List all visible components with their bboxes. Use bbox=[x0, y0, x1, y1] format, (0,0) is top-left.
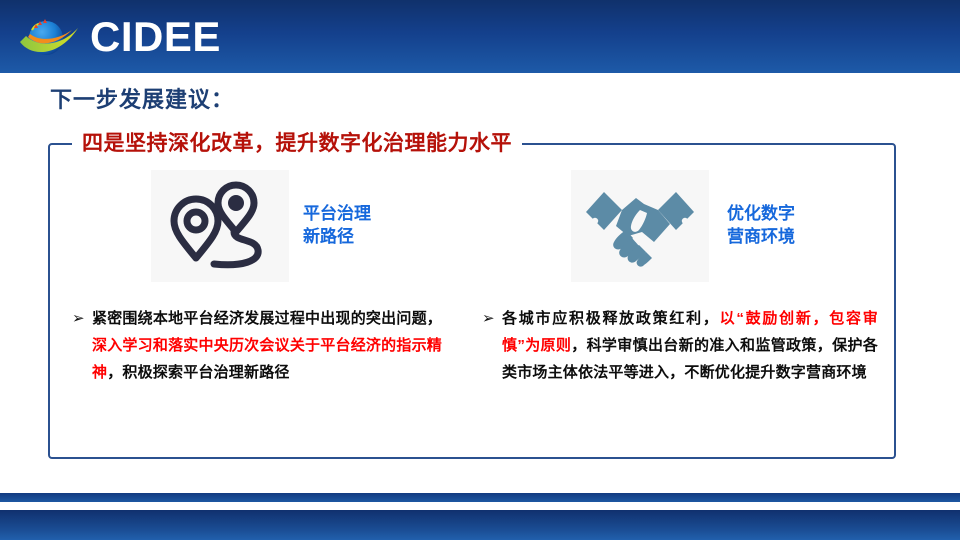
bullet-left: ➢ 紧密围绕本地平台经济发展过程中出现的突出问题，深入学习和落实中央历次会议关于… bbox=[72, 305, 442, 386]
icon-label-right-line2: 营商环境 bbox=[727, 226, 795, 249]
brand-wordmark: CIDEE bbox=[90, 16, 221, 58]
page-title: 下一步发展建议： bbox=[50, 82, 234, 114]
slide-header: CIDEE bbox=[0, 0, 960, 73]
column-platform-governance: 平台治理 新路径 ➢ 紧密围绕本地平台经济发展过程中出现的突出问题，深入学习和落… bbox=[50, 145, 472, 457]
bullet-right-text: 各城市应积极释放政策红利，以“鼓励创新，包容审慎”为原则，科学审慎出台新的准入和… bbox=[502, 305, 878, 386]
bullet-right: ➢ 各城市应积极释放政策红利，以“鼓励创新，包容审慎”为原则，科学审慎出台新的准… bbox=[482, 305, 878, 386]
cidee-globe-swoosh-logo bbox=[16, 12, 88, 62]
content-box: 四是坚持深化改革，提升数字化治理能力水平 bbox=[48, 143, 896, 459]
columns-container: 平台治理 新路径 ➢ 紧密围绕本地平台经济发展过程中出现的突出问题，深入学习和落… bbox=[50, 145, 894, 457]
handshake-icon bbox=[571, 170, 709, 282]
bullet-arrow-icon: ➢ bbox=[72, 305, 92, 332]
icon-label-left: 平台治理 新路径 bbox=[303, 203, 371, 249]
icon-label-left-line1: 平台治理 bbox=[303, 203, 371, 226]
bullet-arrow-icon: ➢ bbox=[482, 305, 502, 332]
map-pins-route-icon bbox=[151, 170, 289, 282]
column-business-environment: 优化数字 营商环境 ➢ 各城市应积极释放政策红利，以“鼓励创新，包容审慎”为原则… bbox=[472, 145, 894, 457]
text-segment: ，积极探索平台治理新路径 bbox=[107, 364, 289, 381]
icon-row-right: 优化数字 营商环境 bbox=[472, 167, 894, 285]
footer-thick-bar bbox=[0, 510, 960, 540]
bullet-left-text: 紧密围绕本地平台经济发展过程中出现的突出问题，深入学习和落实中央历次会议关于平台… bbox=[92, 305, 442, 386]
icon-label-left-line2: 新路径 bbox=[303, 226, 371, 249]
text-segment: 紧密围绕本地平台经济发展过程中出现的突出问题， bbox=[92, 310, 442, 327]
text-segment: 各城市应积极释放政策红利， bbox=[502, 310, 720, 327]
icon-label-right-line1: 优化数字 bbox=[727, 203, 795, 226]
footer-thin-bar bbox=[0, 493, 960, 502]
icon-row-left: 平台治理 新路径 bbox=[50, 167, 472, 285]
icon-label-right: 优化数字 营商环境 bbox=[727, 203, 795, 249]
